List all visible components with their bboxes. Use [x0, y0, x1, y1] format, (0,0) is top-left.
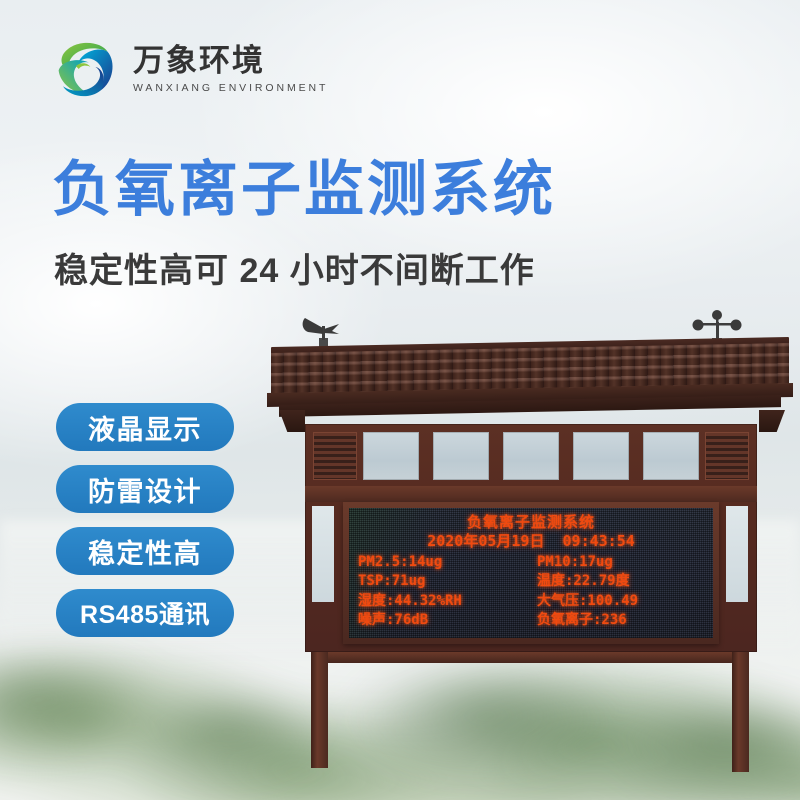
vent-louver-left [313, 432, 357, 480]
support-crossbar [319, 652, 743, 663]
led-reading-noise: 噪声:76dB [358, 611, 531, 629]
window-slot [573, 432, 629, 480]
feature-badge-rs485[interactable]: RS485通讯 [56, 589, 234, 637]
roof-eave-right [759, 410, 785, 432]
led-reading-anion: 负氧离子:236 [531, 611, 704, 629]
led-datetime: 2020年05月19日 09:43:54 [358, 533, 704, 550]
product-banner: 万象环境 WANXIANG ENVIRONMENT 负氧离子监测系统 稳定性高可… [0, 0, 800, 800]
led-readings-grid: PM2.5:14ug PM10:17ug TSP:71ug 温度:22.79度 … [358, 553, 704, 630]
led-reading-pressure: 大气压:100.49 [531, 592, 704, 610]
feature-badge-lcd-display[interactable]: 液晶显示 [56, 403, 234, 451]
side-panel-left [312, 506, 334, 602]
monitoring-station: 负氧离子监测系统 2020年05月19日 09:43:54 PM2.5:14ug… [265, 318, 795, 768]
led-display: 负氧离子监测系统 2020年05月19日 09:43:54 PM2.5:14ug… [349, 508, 713, 638]
led-date: 2020年05月19日 [427, 532, 544, 550]
vent-louver-right [705, 432, 749, 480]
led-reading-tsp: TSP:71ug [358, 572, 531, 590]
side-panel-right [726, 506, 748, 602]
cabinet-upper-section [305, 424, 757, 488]
window-slot [363, 432, 419, 480]
page-title: 负氧离子监测系统 [52, 158, 556, 223]
led-reading-pm10: PM10:17ug [531, 553, 704, 571]
led-reading-temp: 温度:22.79度 [531, 572, 704, 590]
led-screen-bezel: 负氧离子监测系统 2020年05月19日 09:43:54 PM2.5:14ug… [343, 502, 719, 644]
window-slot [643, 432, 699, 480]
led-time: 09:43:54 [563, 532, 635, 550]
brand-name-en: WANXIANG ENVIRONMENT [133, 82, 328, 94]
support-leg-right [732, 652, 749, 772]
window-slot [503, 432, 559, 480]
feature-badge-lightning-protection[interactable]: 防雷设计 [56, 465, 234, 513]
led-reading-humidity: 湿度:44.32%RH [358, 592, 531, 610]
brand-name-cn: 万象环境 [133, 44, 328, 79]
globe-swirl-logo-icon [50, 33, 122, 105]
roof-eave-left [279, 410, 305, 432]
support-leg-left [311, 652, 328, 768]
led-title: 负氧离子监测系统 [358, 514, 704, 531]
page-subtitle: 稳定性高可 24 小时不间断工作 [54, 243, 535, 292]
feature-badge-high-stability[interactable]: 稳定性高 [56, 527, 234, 575]
window-slot-row [363, 432, 699, 480]
feature-badge-list: 液晶显示 防雷设计 稳定性高 RS485通讯 [56, 403, 234, 637]
brand-logo: 万象环境 WANXIANG ENVIRONMENT [50, 33, 328, 105]
led-reading-pm25: PM2.5:14ug [358, 553, 531, 571]
window-slot [433, 432, 489, 480]
cabinet-mid-rail [305, 486, 757, 502]
